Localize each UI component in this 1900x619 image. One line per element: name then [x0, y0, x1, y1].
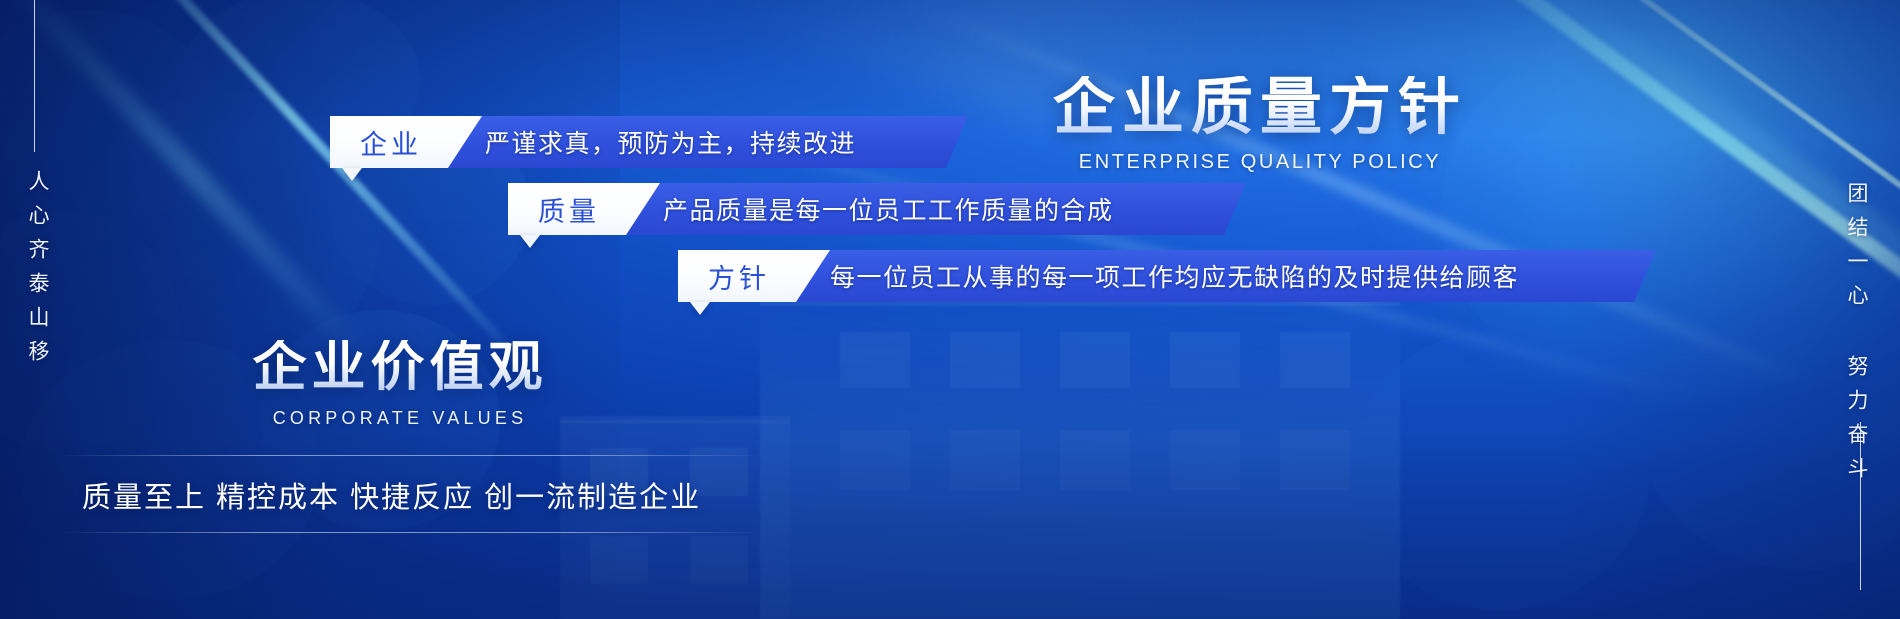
- corporate-values-heading: 企业价值观 CORPORATE VALUES: [200, 340, 600, 429]
- values-tagline-block: 质量至上 精控成本 快捷反应 创一流制造企业: [60, 455, 760, 533]
- quality-policy-heading: 企业质量方针 ENTERPRISE QUALITY POLICY: [1050, 76, 1470, 174]
- tagline-rule-bottom: [60, 532, 760, 533]
- ribbon-tag-label: 质量: [508, 183, 630, 235]
- ribbon-text: 严谨求真，预防为主，持续改进: [485, 116, 856, 168]
- quality-policy-title-cn: 企业质量方针: [1050, 76, 1470, 139]
- ribbon-notch-icon: [690, 302, 710, 315]
- left-vertical-slogan: 人心齐泰山移: [23, 170, 53, 374]
- banner-canvas: 人心齐泰山移 团结一心 努力奋斗 企业质量方针 ENTERPRISE QUALI…: [0, 0, 1900, 619]
- quality-policy-title-en: ENTERPRISE QUALITY POLICY: [1050, 151, 1470, 174]
- left-vertical-rule: [34, 0, 35, 152]
- ribbon-notch-icon: [342, 168, 362, 181]
- ribbon-notch-icon: [520, 235, 540, 248]
- corporate-values-title-cn: 企业价值观: [200, 340, 600, 395]
- right-vertical-rule: [1860, 422, 1861, 590]
- corporate-values-title-en: CORPORATE VALUES: [200, 408, 600, 429]
- ribbon-text: 每一位员工从事的每一项工作均应无缺陷的及时提供给顾客: [830, 250, 1519, 302]
- values-tagline: 质量至上 精控成本 快捷反应 创一流制造企业: [60, 456, 760, 532]
- ribbon-text: 产品质量是每一位员工工作质量的合成: [663, 183, 1114, 235]
- ribbon-tag-label: 方针: [678, 250, 800, 302]
- right-vertical-slogan: 团结一心 努力奋斗: [1842, 182, 1872, 491]
- ribbon-tag-label: 企业: [330, 116, 452, 168]
